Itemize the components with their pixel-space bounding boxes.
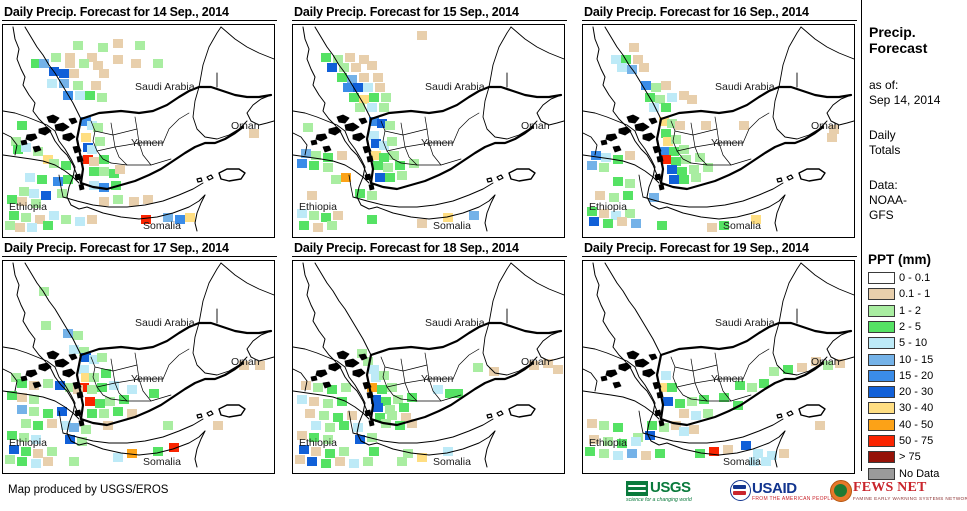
map-panel-4: Daily Precip. Forecast for 17 Sep., 2014 xyxy=(2,240,277,474)
rail-data-line1: NOAA- xyxy=(869,193,907,208)
legend-swatch xyxy=(868,305,895,317)
rail-totals-line1: Daily xyxy=(869,128,900,143)
map-canvas[interactable]: Saudi ArabiaOmanYemenEthiopiaSomalia xyxy=(292,260,565,474)
map-canvas[interactable]: Saudi ArabiaOmanYemenEthiopiaSomalia xyxy=(2,24,275,238)
map-canvas[interactable]: Saudi ArabiaOmanYemenEthiopiaSomalia xyxy=(582,260,855,474)
fewsnet-logo-text: FEWS NET xyxy=(853,480,927,496)
country-label-saudi-arabia: Saudi Arabia xyxy=(425,318,485,329)
fewsnet-globe-icon xyxy=(830,480,852,502)
map-panel-3: Daily Precip. Forecast for 16 Sep., 2014 xyxy=(582,4,857,238)
country-label-ethiopia: Ethiopia xyxy=(299,202,337,213)
country-label-yemen: Yemen xyxy=(421,138,453,149)
legend-swatch xyxy=(868,272,895,284)
map-panel-1: Daily Precip. Forecast for 14 Sep., 2014 xyxy=(2,4,277,238)
rail-data-label: Data: xyxy=(869,178,907,193)
usaid-logo: USAID FROM THE AMERICAN PEOPLE xyxy=(730,478,826,506)
country-label-yemen: Yemen xyxy=(421,374,453,385)
country-label-oman: Oman xyxy=(231,121,260,132)
map-panel-title: Daily Precip. Forecast for 16 Sep., 2014 xyxy=(582,4,857,21)
rail-data-line2: GFS xyxy=(869,208,907,223)
usgs-logo-tagline: science for a changing world xyxy=(626,497,692,503)
legend-title: PPT (mm) xyxy=(868,252,931,267)
map-panel-2: Daily Precip. Forecast for 15 Sep., 2014 xyxy=(292,4,567,238)
legend-label: 20 - 30 xyxy=(899,386,933,398)
legend-label: 2 - 5 xyxy=(899,321,921,333)
country-label-somalia: Somalia xyxy=(143,457,181,468)
legend-label: 0.1 - 1 xyxy=(899,288,930,300)
legend-label: 50 - 75 xyxy=(899,435,933,447)
country-label-saudi-arabia: Saudi Arabia xyxy=(135,318,195,329)
country-label-yemen: Yemen xyxy=(131,138,163,149)
map-panel-5: Daily Precip. Forecast for 18 Sep., 2014 xyxy=(292,240,567,474)
map-canvas[interactable]: Saudi ArabiaOmanYemenEthiopiaSomalia xyxy=(582,24,855,238)
country-label-oman: Oman xyxy=(811,357,840,368)
legend-swatch xyxy=(868,419,895,431)
rail-asof-date: Sep 14, 2014 xyxy=(869,93,940,108)
info-rail: Precip. Forecast as of: Sep 14, 2014 Dai… xyxy=(861,0,967,471)
country-label-saudi-arabia: Saudi Arabia xyxy=(715,82,775,93)
legend-label: 30 - 40 xyxy=(899,402,933,414)
country-label-somalia: Somalia xyxy=(143,221,181,232)
map-panel-title: Daily Precip. Forecast for 14 Sep., 2014 xyxy=(2,4,277,21)
map-panel-title: Daily Precip. Forecast for 15 Sep., 2014 xyxy=(292,4,567,21)
rail-title: Precip. Forecast xyxy=(869,24,927,56)
rail-title-line1: Precip. xyxy=(869,24,927,40)
legend-label: 40 - 50 xyxy=(899,419,933,431)
legend-swatch xyxy=(868,321,895,333)
rail-asof-label: as of: xyxy=(869,78,940,93)
legend-swatch xyxy=(868,386,895,398)
country-label-yemen: Yemen xyxy=(711,374,743,385)
usaid-seal-icon xyxy=(730,480,751,501)
legend-label: > 75 xyxy=(899,451,921,463)
country-label-somalia: Somalia xyxy=(723,457,761,468)
legend-swatch xyxy=(868,354,895,366)
country-label-ethiopia: Ethiopia xyxy=(589,202,627,213)
country-label-ethiopia: Ethiopia xyxy=(9,438,47,449)
legend-swatch xyxy=(868,402,895,414)
country-label-yemen: Yemen xyxy=(711,138,743,149)
legend-swatch xyxy=(868,370,895,382)
map-panel-6: Daily Precip. Forecast for 19 Sep., 2014 xyxy=(582,240,857,474)
legend-swatch xyxy=(868,435,895,447)
precip-forecast-map-page: Daily Precip. Forecast for 14 Sep., 2014 xyxy=(0,0,967,511)
map-panel-title: Daily Precip. Forecast for 19 Sep., 2014 xyxy=(582,240,857,257)
country-label-ethiopia: Ethiopia xyxy=(9,202,47,213)
usaid-logo-tagline: FROM THE AMERICAN PEOPLE xyxy=(752,496,834,502)
rail-asof: as of: Sep 14, 2014 xyxy=(869,78,940,108)
country-label-somalia: Somalia xyxy=(723,221,761,232)
rail-totals-line2: Totals xyxy=(869,143,900,158)
fewsnet-logo: FEWS NET FAMINE EARLY WARNING SYSTEMS NE… xyxy=(830,478,940,506)
map-credit: Map produced by USGS/EROS xyxy=(8,484,168,496)
country-label-oman: Oman xyxy=(811,121,840,132)
country-label-ethiopia: Ethiopia xyxy=(589,438,627,449)
country-label-oman: Oman xyxy=(231,357,260,368)
usgs-logo: USGS science for a changing world xyxy=(626,478,724,506)
legend-label: 5 - 10 xyxy=(899,337,927,349)
country-label-oman: Oman xyxy=(521,121,550,132)
country-label-somalia: Somalia xyxy=(433,457,471,468)
map-canvas[interactable]: Saudi ArabiaOmanYemenEthiopiaSomalia xyxy=(2,260,275,474)
country-label-saudi-arabia: Saudi Arabia xyxy=(715,318,775,329)
map-panel-title: Daily Precip. Forecast for 17 Sep., 2014 xyxy=(2,240,277,257)
rail-data-source: Data: NOAA- GFS xyxy=(869,178,907,223)
usaid-logo-text: USAID xyxy=(752,480,797,497)
fewsnet-logo-tagline: FAMINE EARLY WARNING SYSTEMS NETWORK xyxy=(853,496,967,501)
usgs-mark-icon xyxy=(626,481,648,496)
country-label-somalia: Somalia xyxy=(433,221,471,232)
legend-label: 1 - 2 xyxy=(899,305,921,317)
country-label-yemen: Yemen xyxy=(131,374,163,385)
map-panel-title: Daily Precip. Forecast for 18 Sep., 2014 xyxy=(292,240,567,257)
map-canvas[interactable]: Saudi ArabiaOmanYemenEthiopiaSomalia xyxy=(292,24,565,238)
legend-swatch xyxy=(868,288,895,300)
legend-label: 15 - 20 xyxy=(899,370,933,382)
legend-swatch xyxy=(868,451,895,463)
country-label-saudi-arabia: Saudi Arabia xyxy=(425,82,485,93)
rail-title-line2: Forecast xyxy=(869,40,927,56)
country-label-ethiopia: Ethiopia xyxy=(299,438,337,449)
country-label-saudi-arabia: Saudi Arabia xyxy=(135,82,195,93)
legend-swatch xyxy=(868,337,895,349)
usgs-logo-text: USGS xyxy=(650,479,691,496)
legend-label: 10 - 15 xyxy=(899,354,933,366)
rail-totals: Daily Totals xyxy=(869,128,900,158)
country-label-oman: Oman xyxy=(521,357,550,368)
legend-label: 0 - 0.1 xyxy=(899,272,930,284)
